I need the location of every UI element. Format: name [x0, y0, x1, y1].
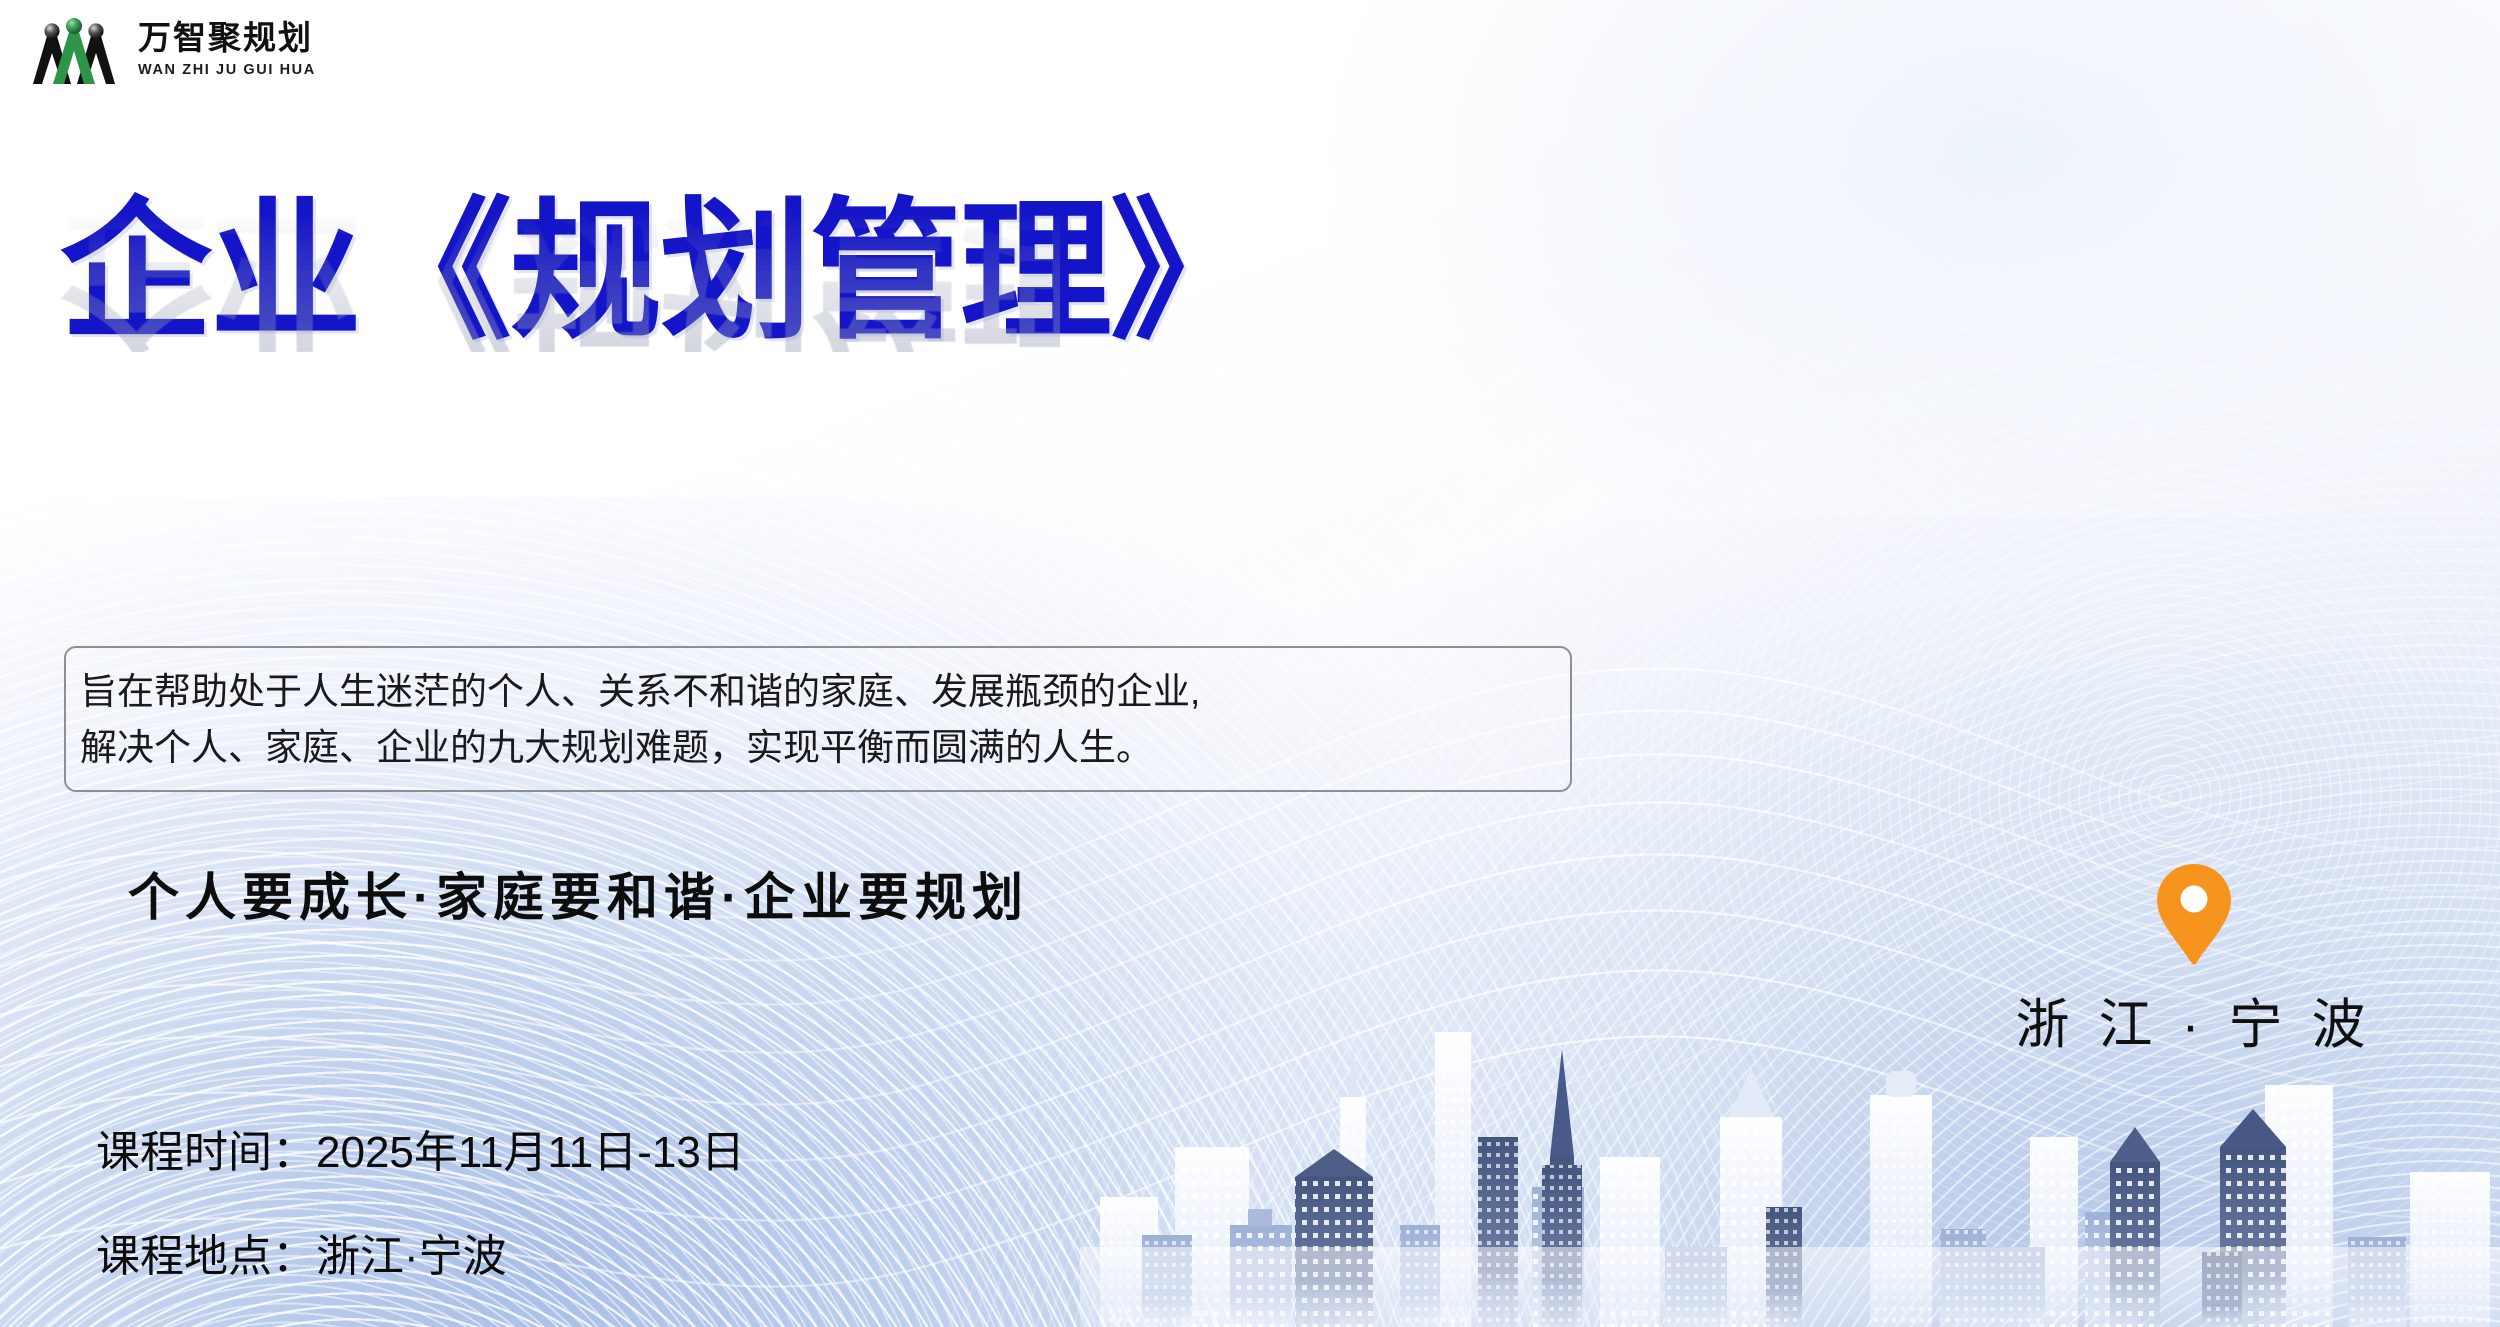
description-box: 旨在帮助处于人生迷茫的个人、关系不和谐的家庭、发展瓶颈的企业, 解决个人、家庭、… [64, 646, 1572, 792]
brand-name-cn: 万智聚规划 [138, 23, 316, 56]
location-block: 浙 江 · 宁 波 [2014, 862, 2374, 1059]
map-pin-icon [2154, 862, 2234, 966]
course-time-row: 课程时间：2025年11月11日-13日 [96, 1116, 745, 1180]
brand-name-en: WAN ZHI JU GUI HUA [138, 63, 316, 78]
description-line-2: 解决个人、家庭、企业的九大规划难题，实现平衡而圆满的人生。 [80, 720, 1552, 776]
brand-logo: 万智聚规划 WAN ZHI JU GUI HUA [26, 14, 316, 86]
brand-logo-text: 万智聚规划 WAN ZHI JU GUI HUA [138, 23, 316, 78]
course-info: 课程时间：2025年11月11日-13日 课程地点：浙江·宁波 [96, 1116, 745, 1284]
three-people-m-logo-icon [26, 14, 122, 86]
hero-title-block: 企业《规划管理》 企业《规划管理》 [60, 196, 1060, 504]
poster-canvas: 万智聚规划 WAN ZHI JU GUI HUA 企业《规划管理》 企业《规划管… [0, 0, 2500, 1327]
location-label: 浙 江 · 宁 波 [2014, 980, 2374, 1059]
tagline: 个人要成长·家庭要和谐·企业要规划 [128, 856, 1029, 930]
page-title-reflection: 企业《规划管理》 [60, 200, 1060, 352]
background-top-wash [1300, 0, 2500, 600]
description-line-1: 旨在帮助处于人生迷茫的个人、关系不和谐的家庭、发展瓶颈的企业, [80, 664, 1552, 720]
course-place-row: 课程地点：浙江·宁波 [96, 1220, 745, 1284]
